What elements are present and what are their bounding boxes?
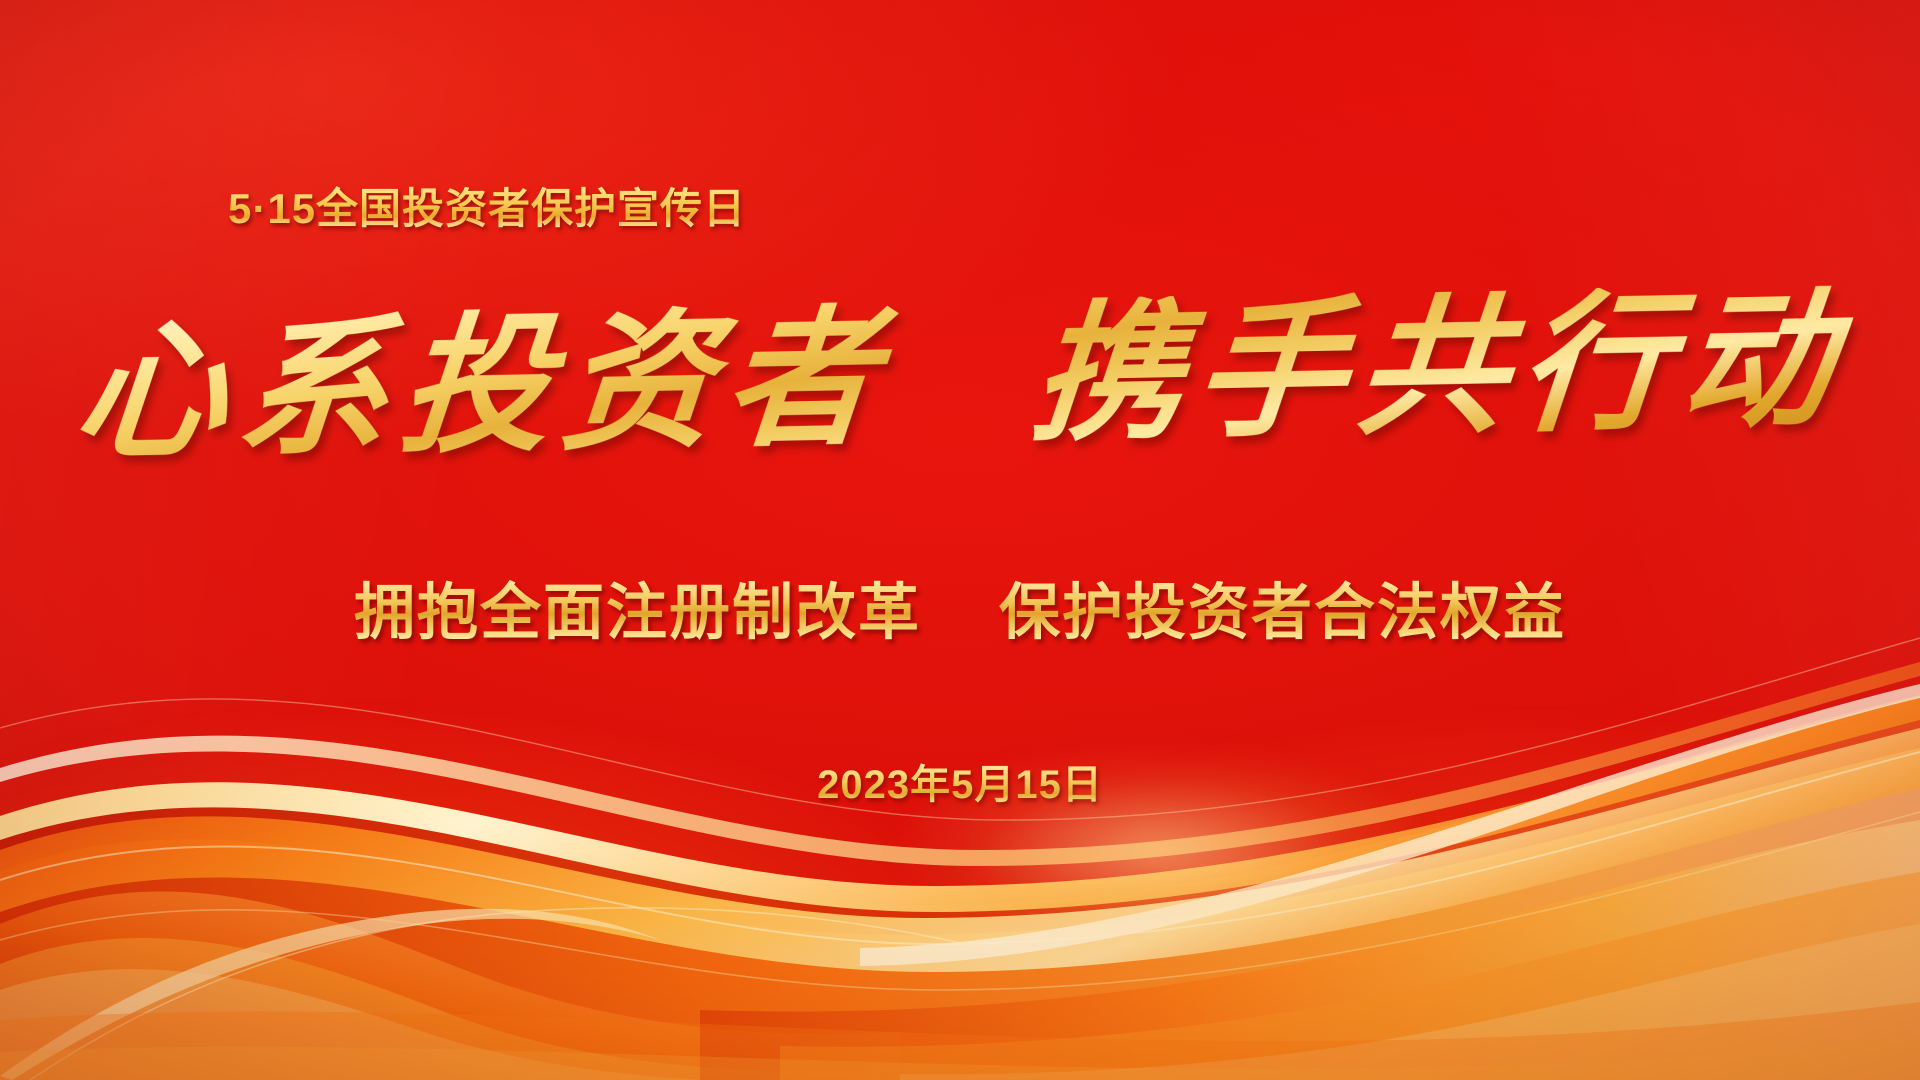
page-title: 心系投资者 携手共行动 bbox=[0, 282, 1920, 476]
headline-phrase-first: 心系投资者 bbox=[69, 296, 895, 478]
background-vignette bbox=[0, 0, 1920, 1080]
campaign-day-label: 5·15全国投资者保护宣传日 bbox=[228, 175, 746, 236]
subtitle-phrase-second: 保护投资者合法权益 bbox=[999, 578, 1566, 646]
background-sheen-overlay bbox=[0, 0, 1920, 1080]
subtitle-phrase-first: 拥抱全面注册制改革 bbox=[354, 578, 921, 646]
event-date: 2023年5月15日 bbox=[0, 752, 1920, 810]
headline-spacer bbox=[933, 428, 979, 429]
headline-phrase-second: 携手共行动 bbox=[1026, 278, 1852, 460]
promotional-poster: 5·15全国投资者保护宣传日 心系投资者 携手共行动 拥抱全面注册制改革 保护投… bbox=[0, 0, 1920, 1080]
subtitle-slogan: 拥抱全面注册制改革 保护投资者合法权益 bbox=[0, 562, 1920, 651]
